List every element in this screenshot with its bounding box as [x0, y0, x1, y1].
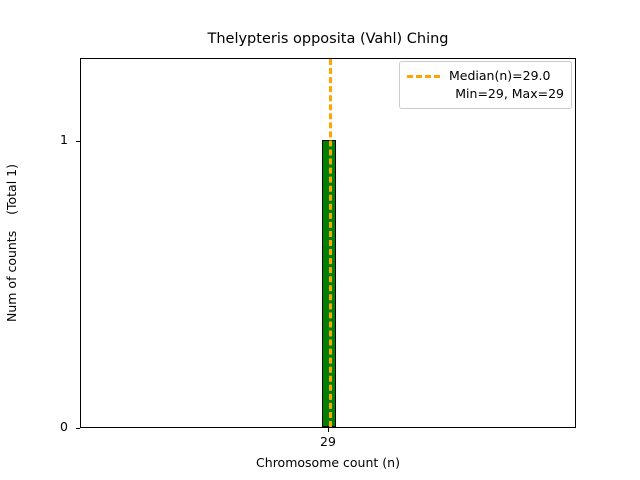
dashed-line-icon [407, 75, 440, 78]
legend-entry-minmax: Min=29, Max=29 [407, 85, 564, 102]
legend-entry-label: Median(n)=29.0 [449, 69, 550, 83]
legend-entry-median: Median(n)=29.0 [407, 67, 564, 85]
y-axis-label-wrap: Num of counts (Total 1) [0, 58, 24, 428]
figure-canvas: Thelypteris opposita (Vahl) Ching 01 29 … [0, 0, 640, 480]
plot-area [80, 58, 576, 428]
x-tick-label-29: 29 [320, 435, 336, 449]
y-tick-mark-1 [76, 141, 80, 142]
y-axis-label: Num of counts (Total 1) [5, 164, 19, 322]
median-line-indicator [329, 59, 332, 427]
y-tick-mark-0 [76, 428, 80, 429]
legend-minmax-label: Min=29, Max=29 [455, 87, 564, 101]
x-axis-label: Chromosome count (n) [80, 455, 576, 470]
y-tick-label-0: 0 [60, 421, 68, 433]
chart-legend: Median(n)=29.0 Min=29, Max=29 [399, 61, 572, 109]
y-tick-label-1: 1 [60, 134, 68, 146]
chart-title: Thelypteris opposita (Vahl) Ching [80, 30, 576, 48]
x-tick-mark-29 [328, 428, 329, 432]
